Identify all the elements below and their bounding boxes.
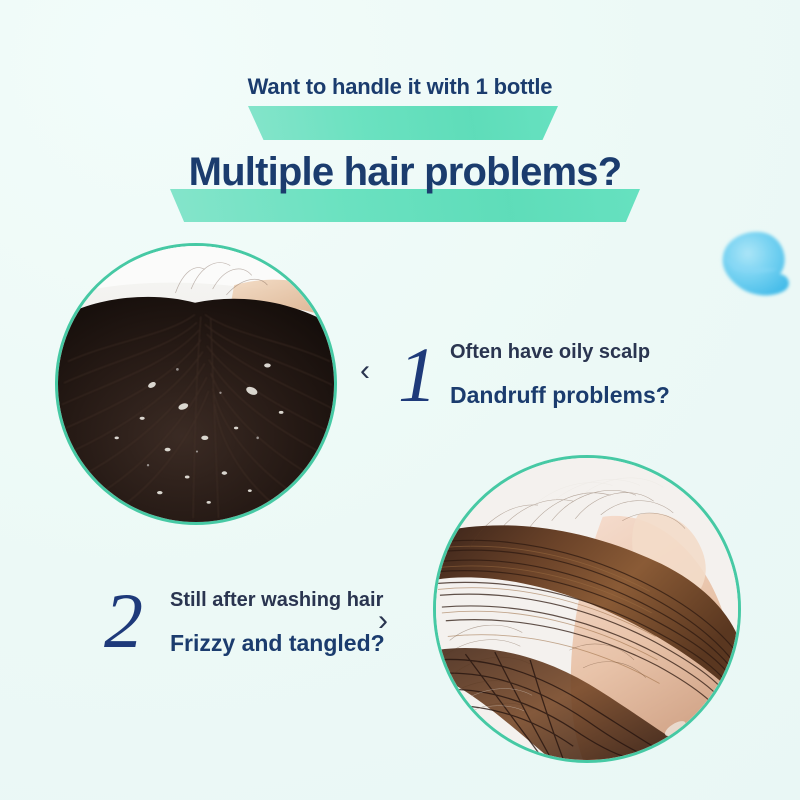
problem-1-number: 1	[398, 336, 437, 414]
blue-petal-icon	[712, 222, 794, 304]
frizzy-hair-image	[436, 458, 738, 760]
problem-1-line-1: Often have oily scalp	[450, 340, 670, 365]
problem-2-number: 2	[104, 582, 143, 660]
problem-1-text: Often have oily scalp Dandruff problems?	[450, 340, 670, 410]
problem-1-line-2: Dandruff problems?	[450, 381, 670, 410]
problem-1-photo	[55, 243, 337, 525]
chevron-left-icon: ‹	[360, 356, 370, 386]
problem-2-text: Still after washing hair Frizzy and tang…	[170, 588, 385, 658]
problem-2-photo	[433, 455, 741, 763]
kicker-text: Want to handle it with 1 bottle	[230, 72, 570, 101]
page-title: Multiple hair problems?	[150, 150, 660, 194]
problem-2-line-2: Frizzy and tangled?	[170, 629, 385, 658]
dandruff-hair-image	[58, 246, 334, 522]
promo-banner-page: Want to handle it with 1 bottle Multiple…	[0, 0, 800, 800]
kicker-banner-shape	[248, 106, 558, 140]
problem-2-line-1: Still after washing hair	[170, 588, 385, 613]
